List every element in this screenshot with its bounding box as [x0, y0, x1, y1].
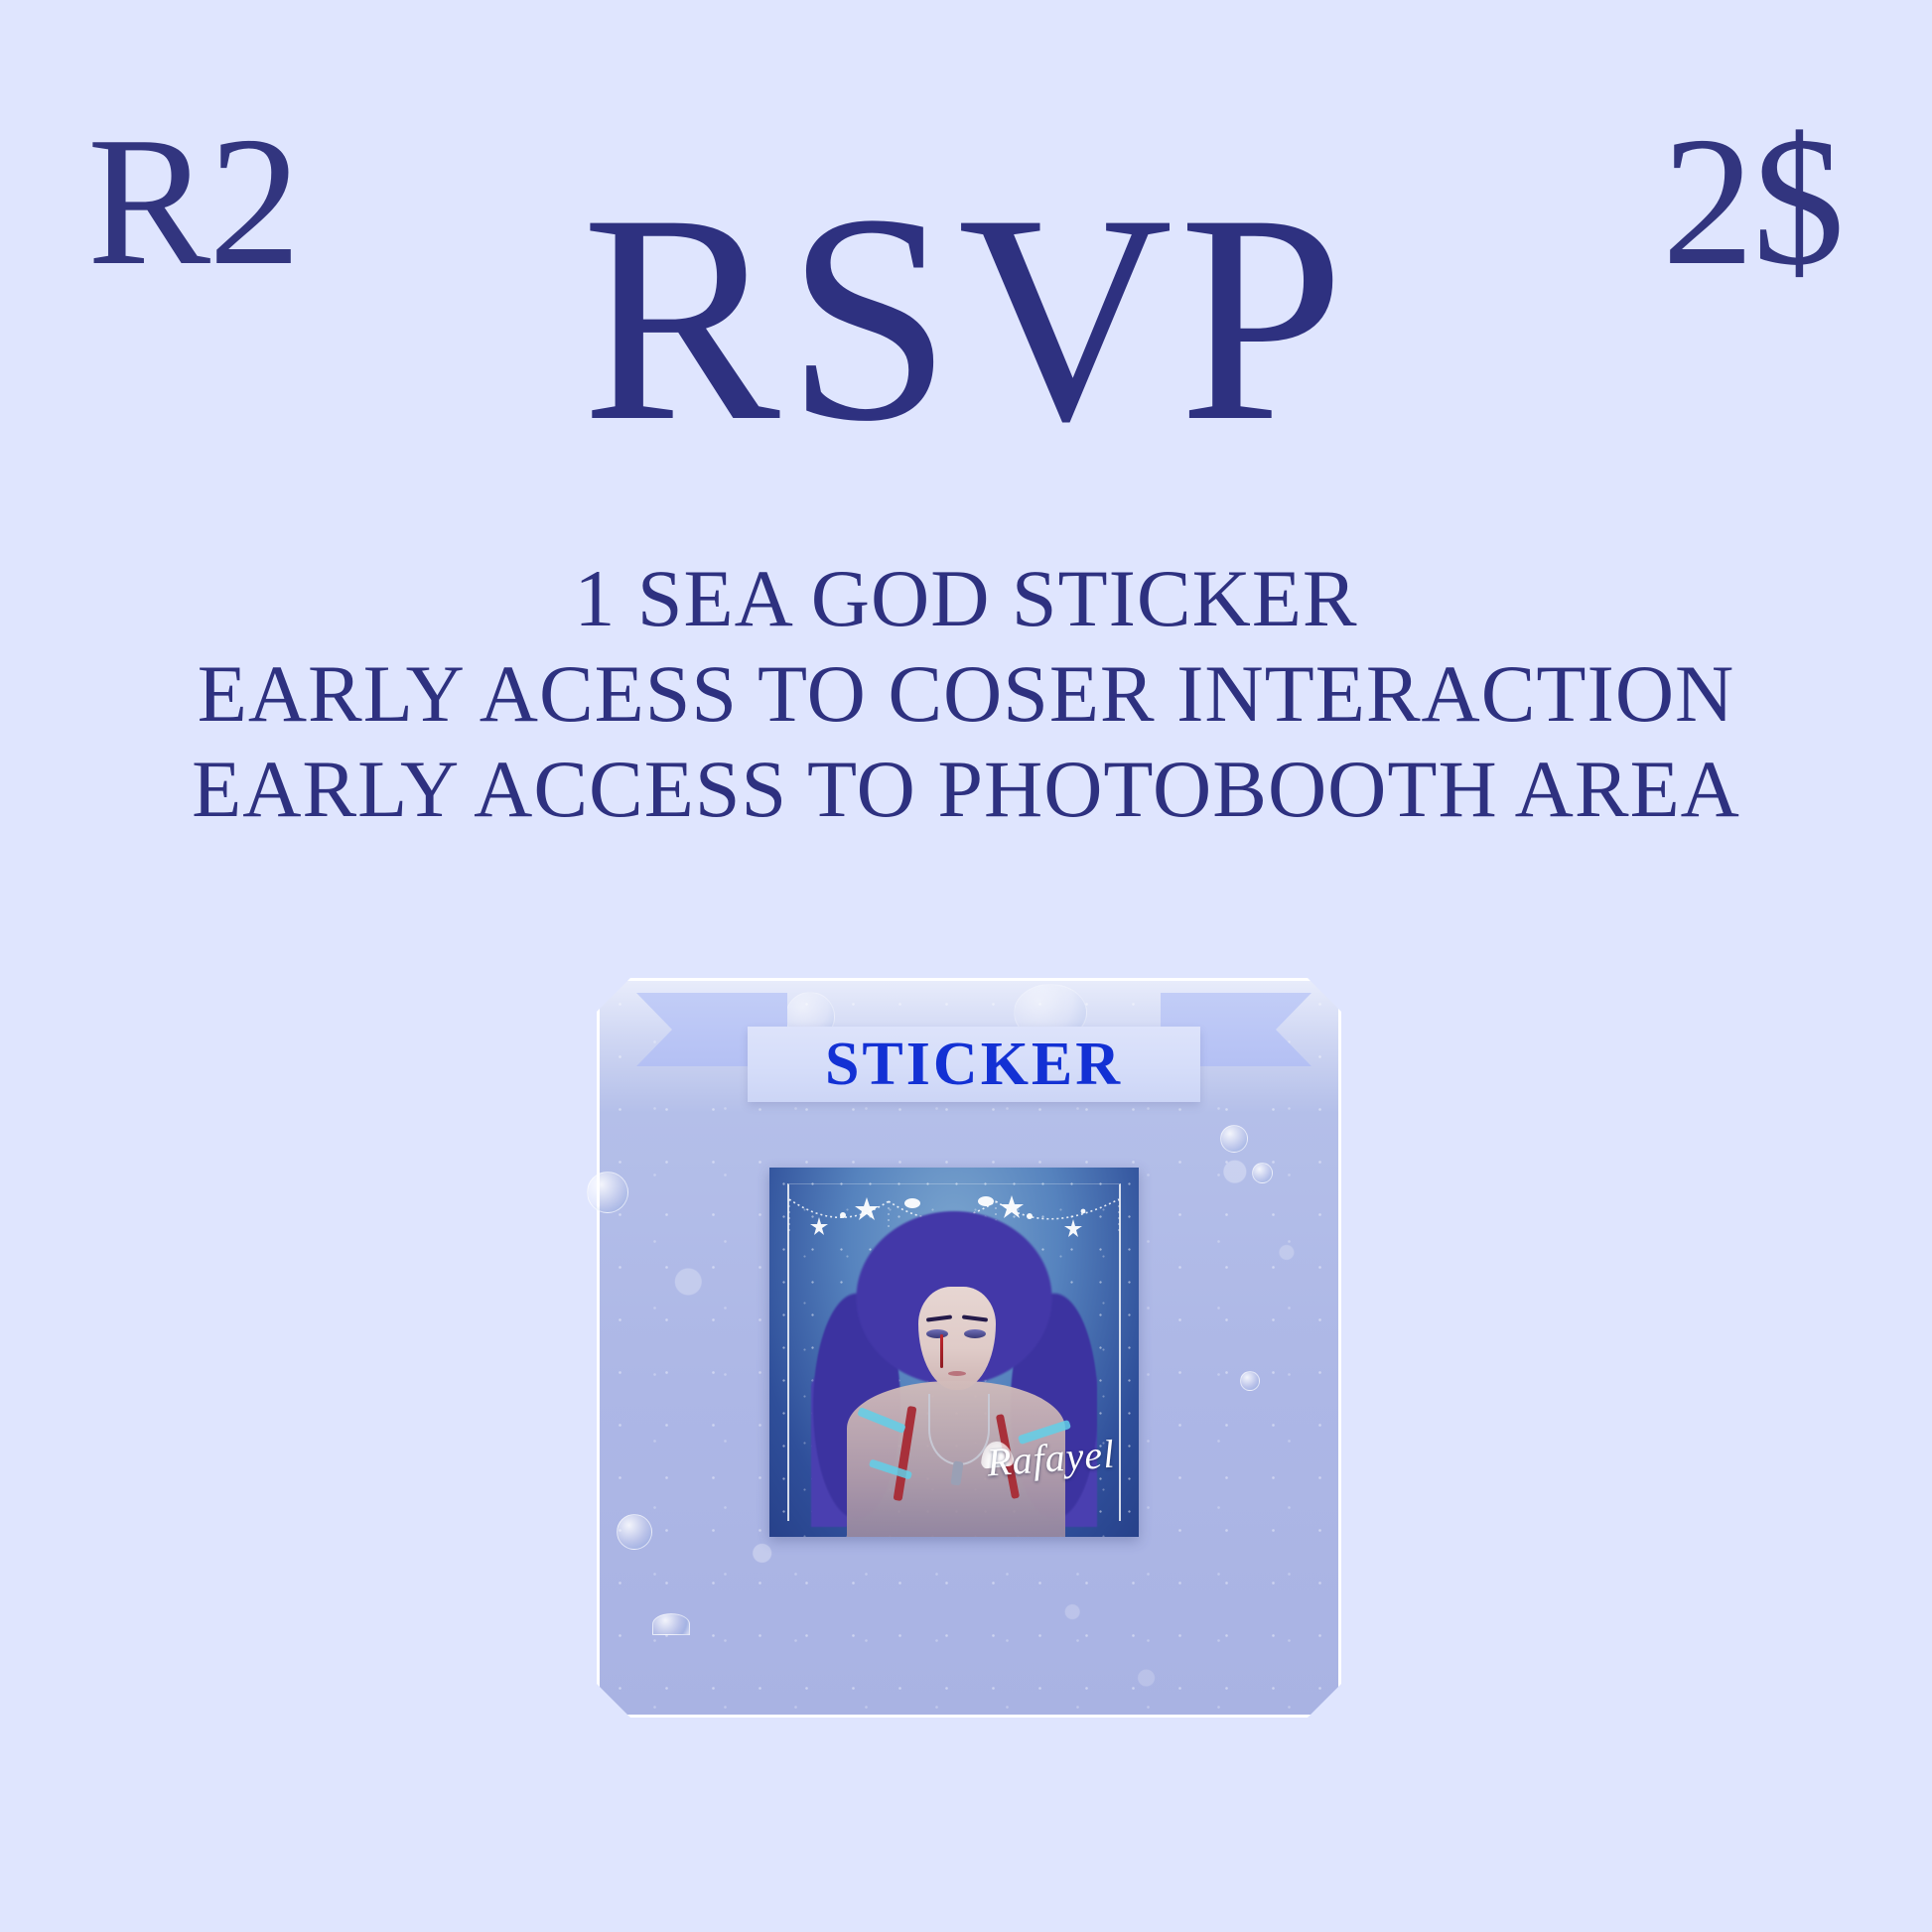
rsvp-tier-card: R2 2$ RSVP 1 SEA GOD STICKER EARLY ACESS…: [0, 0, 1932, 1932]
blood-tear: [940, 1334, 943, 1368]
perk-item: 1 SEA GOD STICKER: [0, 551, 1932, 646]
water-bubble-icon: [587, 1172, 628, 1213]
perk-item: EARLY ACCESS TO PHOTOBOOTH AREA: [0, 742, 1932, 837]
water-bubble-icon: [652, 1613, 690, 1635]
water-bubble-icon: [617, 1514, 652, 1550]
character-lips: [948, 1371, 966, 1376]
perks-list: 1 SEA GOD STICKER EARLY ACESS TO COSER I…: [0, 551, 1932, 837]
sticker-artwork: Rafayel: [769, 1168, 1139, 1537]
page-title: RSVP: [0, 169, 1932, 467]
perk-item: EARLY ACESS TO COSER INTERACTION: [0, 646, 1932, 742]
ribbon-label: STICKER: [825, 1034, 1123, 1095]
water-bubble-icon: [1240, 1371, 1260, 1391]
sticker-banner: STICKER: [636, 993, 1311, 1066]
character-eye: [964, 1329, 986, 1338]
ribbon-panel: STICKER: [748, 1027, 1200, 1102]
water-bubble-icon: [1220, 1125, 1248, 1153]
character-eye: [926, 1329, 948, 1338]
water-bubble-icon: [1252, 1163, 1273, 1183]
character-signature: Rafayel: [985, 1431, 1116, 1486]
